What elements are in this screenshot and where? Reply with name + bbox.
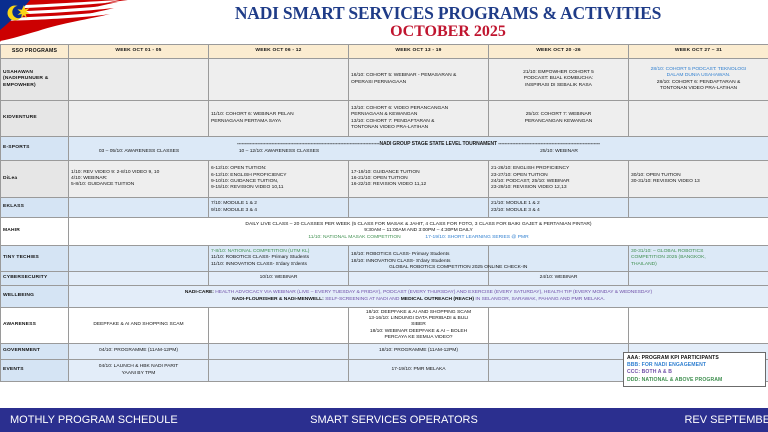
table-row-kidventure: KIDVENTURE 11/10: COHORT 6: WEBINAR PELA… <box>1 101 768 137</box>
cell-usahawan-w4: 21/10: EMPOWHER COHORT 5 PODCAST: BUAL K… <box>489 59 629 101</box>
column-header-week3: WEEK OCT 13 - 19 <box>349 45 489 59</box>
malaysia-flag-icon <box>0 0 128 42</box>
legend-item-aaa: AAA: PROGRAM KPI PARTICIPANTS <box>627 355 762 362</box>
cell-awareness-w4 <box>489 308 629 344</box>
column-header-week4: WEEK OCT 20 -26 <box>489 45 629 59</box>
cell-esports-w3 <box>349 148 489 156</box>
row-label-esports: E-SPORTS <box>1 137 69 161</box>
table-row-tiny-techies: TINY TECHIES 7-8/10: NATIONAL COMPETITIO… <box>1 246 768 272</box>
cell-usahawan-w3: 16/10: COHORT 5: WEBINAR - PEMASARAN & O… <box>349 59 489 101</box>
row-label-government: GOVERNMENT <box>1 344 69 360</box>
cell-dilea-w4: 21-26/10: ENGLISH PROFICIENCY 23-27/10: … <box>489 161 629 198</box>
table-header-row: SSO PROGRAMS WEEK OCT 01 - 05 WEEK OCT 0… <box>1 45 768 59</box>
cell-events-w4 <box>489 360 629 382</box>
cell-events-w2 <box>209 360 349 382</box>
table-row-wellbeing: WELLBEING NADI-CARE: HEALTH ADVOCACY VIA… <box>1 286 768 308</box>
cell-government-w3: 18/10: PROGRAMME (11AM-12PM) <box>349 344 489 360</box>
cell-kidventure-w3: 13/10: COHORT 6: VIDEO PERANCANGAN PERNI… <box>349 101 489 137</box>
cell-kidventure-w1 <box>69 101 209 137</box>
legend-item-bbb: BBB: FOR NADI ENGAGEMENT <box>627 362 762 369</box>
row-label-kidventure: KIDVENTURE <box>1 101 69 137</box>
legend-item-ccc: CCC: BOTH A & B <box>627 369 762 376</box>
footer-left-label: MOTHLY PROGRAM SCHEDULE <box>0 414 263 426</box>
cell-usahawan-w1 <box>69 59 209 101</box>
cell-cybersecurity-w4: 24/10: WEBINAR <box>489 272 629 286</box>
cell-government-w4 <box>489 344 629 360</box>
footer-right-label: REV SEPTEMBER <box>525 414 768 426</box>
cell-usahawan-w5: 28/10: COHORT 5 PODCAST: TEKNOLOGI DALAM… <box>629 59 768 101</box>
column-header-sso: SSO PROGRAMS <box>1 45 69 59</box>
cell-cybersecurity-w5 <box>629 272 768 286</box>
cell-dilea-w3: 17-19/10: GUIDANCE TUITION 16-21/10: OPE… <box>349 161 489 198</box>
row-label-cybersecurity: CYBERSECURITY <box>1 272 69 286</box>
cell-mahir-content: DAILY LIVE CLASS – 20 CLASSES PER WEEK (… <box>69 218 768 246</box>
cell-esports-content: ----------------------------------------… <box>69 137 768 161</box>
cell-esports-w5 <box>629 148 768 156</box>
cell-awareness-w5 <box>629 308 768 344</box>
column-header-week2: WEEK OCT 06 - 12 <box>209 45 349 59</box>
cell-eklass-w1 <box>69 198 209 218</box>
row-label-usahawan: USAHAWAN (NADIPRUNUER & EMPOWHER) <box>1 59 69 101</box>
cell-eklass-w5 <box>629 198 768 218</box>
cell-kidventure-w2: 11/10: COHORT 6: WEBINAR PELAN PERNIAGAA… <box>209 101 349 137</box>
page-header: NADI SMART SERVICES PROGRAMS & ACTIVITIE… <box>0 0 768 44</box>
cell-esports-w1: 03 – 05/10: AWARENESS CLASSES <box>69 148 209 156</box>
row-label-dilea: DiLea <box>1 161 69 198</box>
row-label-wellbeing: WELLBEING <box>1 286 69 308</box>
cell-dilea-w2: 6-12/10: OPEN TUITION: 6-12/10: ENGLISH … <box>209 161 349 198</box>
cell-events-w1: 04/10: LAUNCH & HBK NADI PARIT YAANI BY … <box>69 360 209 382</box>
schedule-table: SSO PROGRAMS WEEK OCT 01 - 05 WEEK OCT 0… <box>0 44 768 382</box>
cell-awareness-w3: 18/10: DEEPFAKE & AI AND SHOPPING SCAM 1… <box>349 308 489 344</box>
cell-tinytechies-w2: 7-8/10: NATIONAL COMPETITION (UTM KL) 11… <box>209 246 349 272</box>
table-row-mahir: MAHIR DAILY LIVE CLASS – 20 CLASSES PER … <box>1 218 768 246</box>
table-row-eklass: EKLASS 7/10: MODULE 1 & 2 9/10: MODULE 3… <box>1 198 768 218</box>
column-header-week1: WEEK OCT 01 - 05 <box>69 45 209 59</box>
row-label-tiny-techies: TINY TECHIES <box>1 246 69 272</box>
cell-cybersecurity-w1 <box>69 272 209 286</box>
table-row-awareness: AWARENESS DEEPFAKE & AI AND SHOPPING SCA… <box>1 308 768 344</box>
table-row-usahawan: USAHAWAN (NADIPRUNUER & EMPOWHER) 16/10:… <box>1 59 768 101</box>
cell-dilea-w5: 30/10: OPEN TUITION 30-31/10: REVISION V… <box>629 161 768 198</box>
schedule-page: NADI SMART SERVICES PROGRAMS & ACTIVITIE… <box>0 0 768 432</box>
column-header-week5: WEEK OCT 27 – 31 <box>629 45 768 59</box>
row-label-eklass: EKLASS <box>1 198 69 218</box>
page-subtitle: OCTOBER 2025 <box>128 23 768 41</box>
cell-esports-w2: 10 – 12/10: AWARENESS CLASSES <box>209 148 349 156</box>
cell-eklass-w4: 21/10: MODULE 1 & 2 23/10: MODULE 3 & 4 <box>489 198 629 218</box>
cell-kidventure-w5 <box>629 101 768 137</box>
cell-cybersecurity-w2: 10/10: WEBINAR <box>209 272 349 286</box>
tinytechies-global-checkin: GLOBAL ROBOTICS COMPETITION 2025 ONLINE … <box>389 265 527 271</box>
mahir-learning-series-note: 17-19/10: SHORT LEARNING SERIES @ PMR <box>425 235 528 240</box>
cell-wellbeing-content: NADI-CARE: HEALTH ADVOCACY VIA WEBINAR (… <box>69 286 768 308</box>
cell-events-w3: 17-19/10: PMR MELAKA <box>349 360 489 382</box>
table-row-dilea: DiLea 1/10: REV VIDEO 9: 2-8/10 VIDEO 9,… <box>1 161 768 198</box>
cell-tinytechies-w3: 18/10: ROBOTICS CLASS- Primary Students … <box>349 246 489 272</box>
row-label-mahir: MAHIR <box>1 218 69 246</box>
table-row-cybersecurity: CYBERSECURITY 10/10: WEBINAR 24/10: WEBI… <box>1 272 768 286</box>
mahir-competition-note: 11/10: NATIONAL MASAK COMPETITION <box>308 235 400 240</box>
cell-esports-w4: 25/10: WEBINAR <box>489 148 629 156</box>
cell-awareness-w2 <box>209 308 349 344</box>
cell-tinytechies-w5: 30-31/10: – GLOBAL ROBOTICS COMPETITION … <box>629 246 768 272</box>
cell-usahawan-w2 <box>209 59 349 101</box>
legend-item-ddd: DDD: NATIONAL & ABOVE PROGRAM <box>627 377 762 384</box>
cell-dilea-w1: 1/10: REV VIDEO 9: 2-8/10 VIDEO 9, 10 4/… <box>69 161 209 198</box>
cell-awareness-w1: DEEPFAKE & AI AND SHOPPING SCAM <box>69 308 209 344</box>
cell-eklass-w2: 7/10: MODULE 1 & 2 9/10: MODULE 3 & 4 <box>209 198 349 218</box>
cell-government-w2 <box>209 344 349 360</box>
legend-box: AAA: PROGRAM KPI PARTICIPANTS BBB: FOR N… <box>623 352 766 387</box>
cell-cybersecurity-w3 <box>349 272 489 286</box>
table-row-esports: E-SPORTS -------------------------------… <box>1 137 768 161</box>
cell-tinytechies-w1 <box>69 246 209 272</box>
page-footer: MOTHLY PROGRAM SCHEDULE SMART SERVICES O… <box>0 408 768 432</box>
row-label-awareness: AWARENESS <box>1 308 69 344</box>
footer-center-label: SMART SERVICES OPERATORS <box>263 414 524 426</box>
cell-kidventure-w4: 25/10: COHORT 7: WEBINAR PERANCANGAN KEW… <box>489 101 629 137</box>
cell-government-w1: 04/10: PROGRAMME (11AM-12PM) <box>69 344 209 360</box>
header-titles: NADI SMART SERVICES PROGRAMS & ACTIVITIE… <box>128 0 768 41</box>
page-title: NADI SMART SERVICES PROGRAMS & ACTIVITIE… <box>128 0 768 23</box>
row-label-events: EVENTS <box>1 360 69 382</box>
cell-eklass-w3 <box>349 198 489 218</box>
